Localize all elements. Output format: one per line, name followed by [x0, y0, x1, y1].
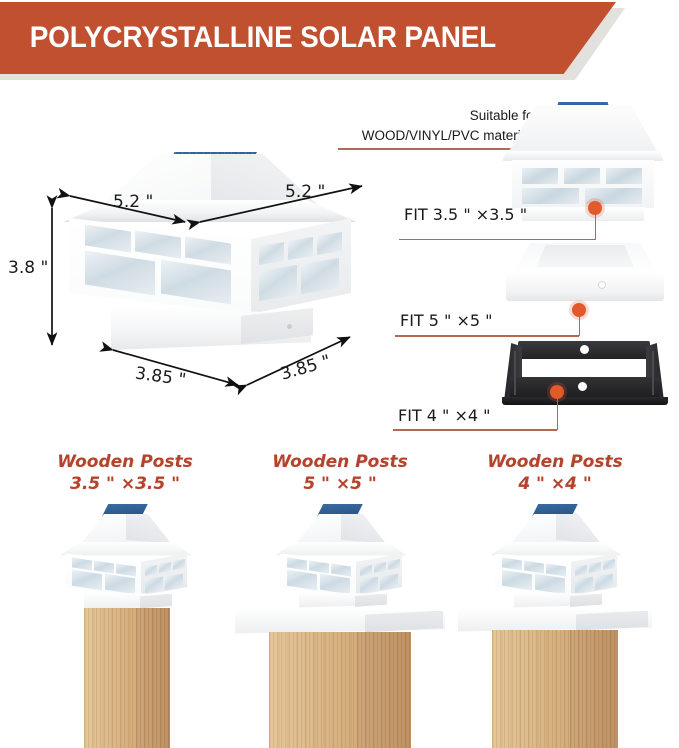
cap-base-right-face [355, 594, 387, 610]
glass-panel [309, 560, 329, 573]
cap-top-rim [275, 542, 407, 556]
glass-panel [287, 569, 317, 590]
glass-panel [360, 576, 378, 593]
glass-panel [524, 560, 544, 573]
fit-leader-horizontal-4 [393, 429, 557, 431]
glass-panel [502, 557, 522, 570]
glass-panel [502, 569, 532, 590]
fit-leader-vertical-4 [557, 392, 559, 430]
glass-panel [388, 559, 400, 570]
glass-panel [564, 168, 600, 184]
glass-panel [94, 560, 114, 573]
cap-body-right-face [141, 554, 187, 596]
glass-panel [575, 576, 593, 593]
post-stack-4 [442, 504, 668, 744]
glass-panel [360, 565, 372, 576]
glass-panel [603, 559, 615, 570]
adapter-bottom-lip [502, 397, 668, 405]
dimension-label-height: 3.8 " [8, 258, 48, 278]
fit-leader-horizontal-3-5 [399, 239, 595, 241]
glass-panel [575, 565, 587, 576]
adapter-rib [652, 351, 654, 395]
post-title-3-5: Wooden Posts 3.5 " ×3.5 " [12, 452, 238, 496]
glass-panel [380, 573, 398, 590]
glass-panel [606, 168, 642, 184]
wooden-post-4 [492, 630, 618, 748]
post-title-4: Wooden Posts 4 " ×4 " [442, 452, 668, 496]
fit-label-5: FIT 5 " ×5 " [400, 311, 493, 330]
post-title-line-1: Wooden Posts [442, 452, 668, 474]
post-left-face [269, 632, 357, 748]
cap-top-rim [490, 542, 622, 556]
fit-label-3-5: FIT 3.5 " ×3.5 " [404, 205, 527, 224]
fit-cap-front-view [500, 97, 666, 215]
fit-leader-vertical-5 [579, 310, 581, 336]
post-left-face [84, 608, 136, 748]
glass-panel [165, 573, 183, 590]
screw-hole [598, 281, 606, 289]
dimension-label-top-left: 5.2 " [113, 192, 153, 212]
glass-panel [331, 563, 351, 576]
screw-hole [578, 382, 587, 391]
glass-panel [320, 573, 350, 594]
cap-body [512, 160, 654, 208]
cap-body-left-face [65, 554, 141, 596]
glass-panel [173, 559, 185, 570]
cap-body-right-face [571, 554, 617, 596]
glass-panel [72, 557, 92, 570]
adapter-front-face [506, 273, 664, 301]
fit-leader-vertical-3-5 [595, 208, 597, 240]
adapter-inner-recess [536, 245, 634, 267]
post-right-face [570, 630, 618, 748]
cap-roof-right-face [556, 514, 601, 544]
black-adapter-frame [490, 337, 678, 413]
glass-panel [589, 562, 601, 573]
cap-roof-right-face [126, 514, 171, 544]
post-title-line-1: Wooden Posts [227, 452, 453, 474]
fit-label-4: FIT 4 " ×4 " [398, 406, 491, 425]
glass-panel [159, 562, 171, 573]
dimension-label-top-right: 5.2 " [285, 182, 325, 202]
cap-roof [508, 105, 658, 153]
cap-roof-right-face [341, 514, 386, 544]
post-right-face [357, 632, 411, 748]
solar-cap [275, 504, 407, 604]
glass-panel [116, 563, 136, 576]
post-title-line-2: 4 " ×4 " [442, 474, 668, 496]
glass-panel [522, 188, 579, 204]
cap-base-right-face [570, 594, 602, 610]
glass-panel [287, 557, 307, 570]
glass-panel [145, 576, 163, 593]
glass-panel [595, 573, 613, 590]
glass-panel [105, 573, 135, 594]
solar-cap [60, 504, 192, 604]
adapter-rib [514, 351, 516, 395]
post-right-face [136, 608, 170, 748]
post-title-line-2: 3.5 " ×3.5 " [12, 474, 238, 496]
glass-panel [522, 168, 558, 184]
glass-panel [535, 573, 565, 594]
wooden-post-5 [269, 632, 411, 748]
cap-body-left-face [280, 554, 356, 596]
glass-panel [374, 562, 386, 573]
wooden-post-3-5 [84, 608, 170, 748]
cap-base [522, 207, 644, 221]
post-stack-3-5 [12, 504, 238, 744]
glass-panel [145, 565, 157, 576]
post-stack-5 [227, 504, 453, 744]
glass-panel [72, 569, 102, 590]
suitable-leader-line [338, 148, 524, 150]
cap-body-left-face [495, 554, 571, 596]
post-title-line-2: 5 " ×5 " [227, 474, 453, 496]
post-left-face [492, 630, 570, 748]
post-title-5: Wooden Posts 5 " ×5 " [227, 452, 453, 496]
post-title-line-1: Wooden Posts [12, 452, 238, 474]
solar-cap [490, 504, 622, 604]
cap-top-rim [60, 542, 192, 556]
glass-panel [546, 563, 566, 576]
screw-hole [580, 345, 589, 354]
cap-body-right-face [356, 554, 402, 596]
